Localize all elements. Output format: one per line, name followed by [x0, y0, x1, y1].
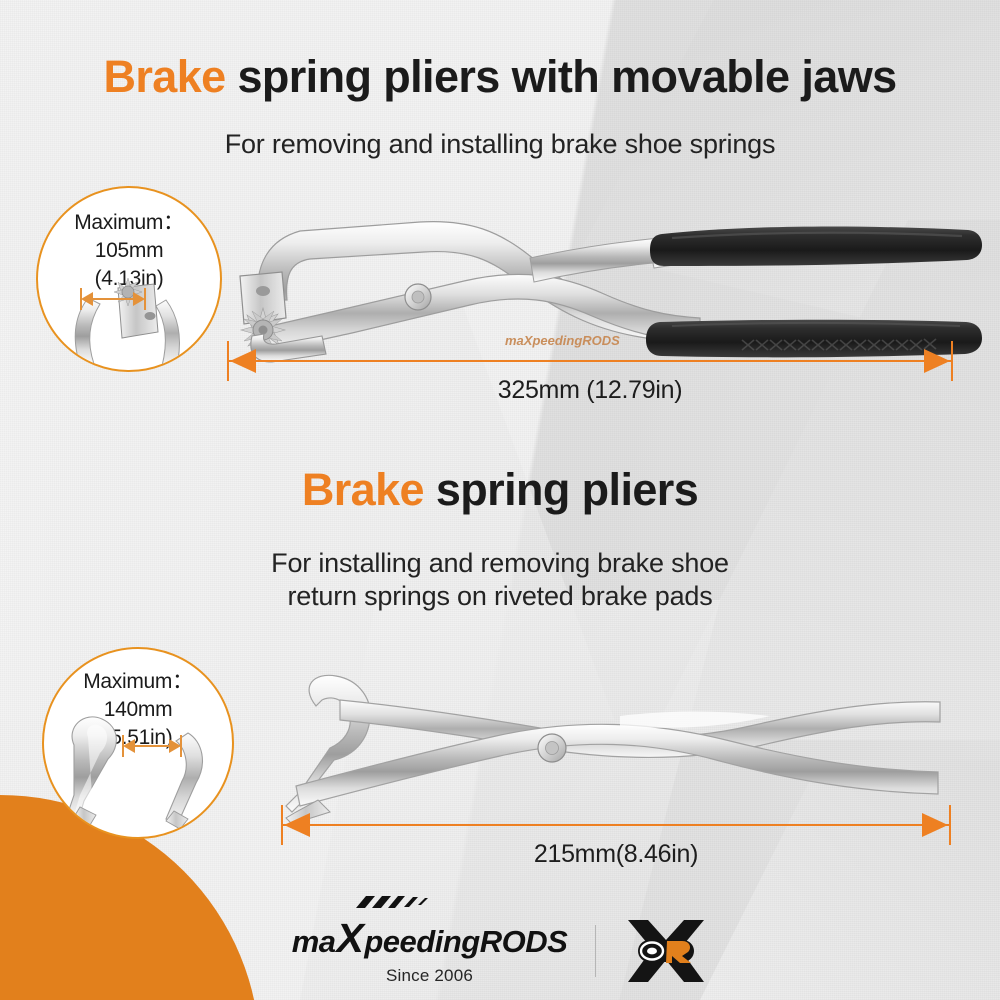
callout-circle-max-opening-2: Maximum： 140mm (5.51in) — [42, 647, 234, 839]
dimension-label-2: 215mm(8.46in) — [282, 840, 950, 869]
section-1-subtitle: For removing and installing brake shoe s… — [0, 128, 1000, 161]
speed-streaks-icon — [350, 895, 428, 913]
section-1-title-highlight: Brake — [103, 51, 225, 102]
dim2-arrow-left — [284, 813, 310, 837]
brand-suffix: RODS — [480, 924, 568, 960]
section-1-title-rest: spring pliers with movable jaws — [226, 51, 897, 102]
section-2-title: Brake spring pliers — [0, 466, 1000, 515]
brand-wordmark: ma X peeding RODS — [292, 915, 568, 962]
brand-tagline: Since 2006 — [386, 966, 473, 986]
callout-1-jaw-illustration — [38, 188, 222, 372]
section-1-title: Brake spring pliers with movable jaws — [0, 53, 1000, 102]
dim2-tick-right — [949, 805, 951, 845]
product-infographic: Brake spring pliers with movable jaws Fo… — [0, 0, 1000, 1000]
xor-badge-icon — [624, 918, 708, 984]
dim2-tick-left — [281, 805, 283, 845]
section-1-subtitle-text: For removing and installing brake shoe s… — [0, 128, 1000, 161]
section-2-title-rest: spring pliers — [424, 464, 698, 515]
dimension-line-325mm: 325mm (12.79in) — [228, 360, 952, 362]
dim1-arrow-right — [924, 349, 950, 373]
callout-1-dimension-arrow — [80, 290, 146, 308]
dimension-label-1: 325mm (12.79in) — [228, 376, 952, 405]
dim2-arrow-right — [922, 813, 948, 837]
brand-prefix: ma — [292, 924, 336, 960]
dim1-arrow-left — [230, 349, 256, 373]
dim1-tick-right — [951, 341, 953, 381]
footer-branding: ma X peeding RODS Si — [0, 915, 1000, 986]
dim1-tick-left — [227, 341, 229, 381]
footer-divider — [595, 925, 596, 977]
xor-badge — [624, 918, 708, 984]
section-2-subtitle-line1: For installing and removing brake shoe — [0, 547, 1000, 580]
section-2-subtitle-line2: return springs on riveted brake pads — [0, 580, 1000, 613]
section-2-subtitle: For installing and removing brake shoe r… — [0, 547, 1000, 614]
dimension-line-215mm: 215mm(8.46in) — [282, 824, 950, 826]
section-2-title-highlight: Brake — [302, 464, 424, 515]
callout-2-dimension-arrow — [122, 737, 182, 755]
brand-middle: peeding — [364, 924, 479, 960]
brand-x-letter: X — [337, 915, 364, 961]
callout-circle-max-opening-1: Maximum： 105mm (4.13in) — [36, 186, 222, 372]
brand-lockup: ma X peeding RODS Si — [292, 915, 568, 986]
